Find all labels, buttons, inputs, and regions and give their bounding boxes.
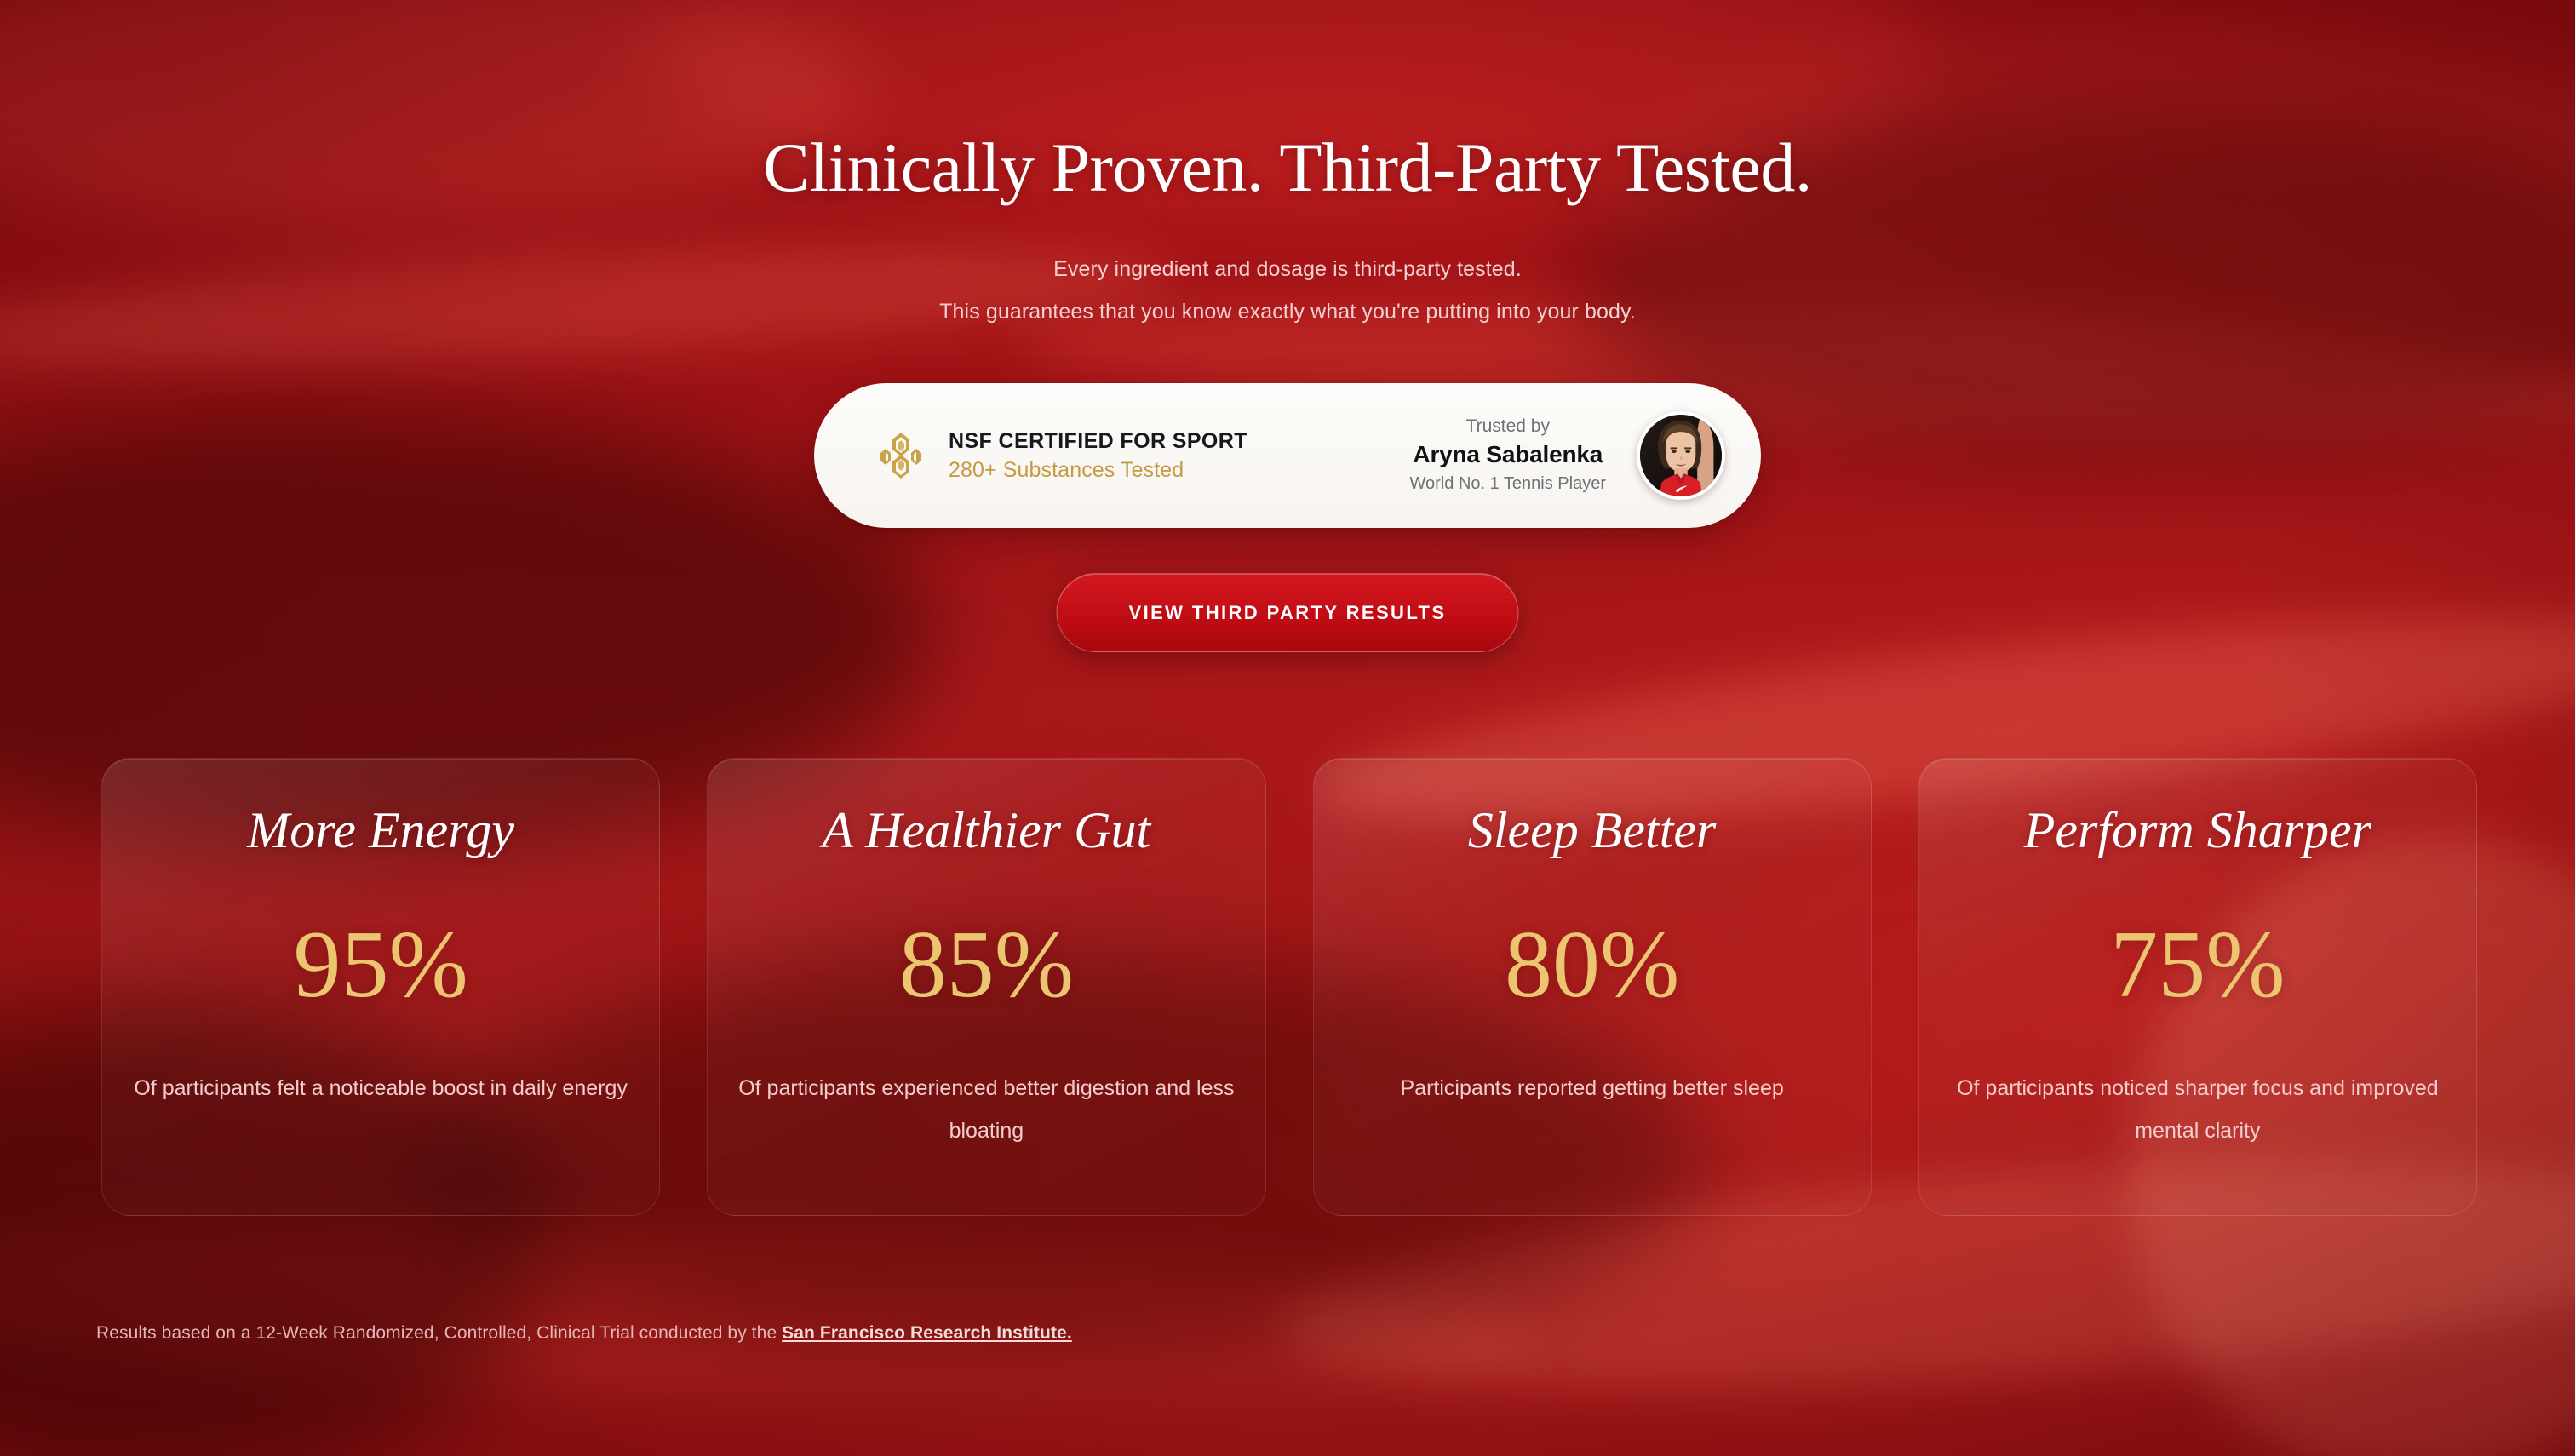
stat-card-value: 75% xyxy=(2110,914,2285,1016)
athlete-name: Aryna Sabalenka xyxy=(1410,439,1606,471)
stats-card-grid: More Energy 95% Of participants felt a n… xyxy=(101,758,2477,1216)
stat-card-value: 95% xyxy=(293,914,467,1016)
nsf-text-group: NSF CERTIFIED FOR SPORT 280+ Substances … xyxy=(949,427,1247,484)
view-third-party-results-button[interactable]: VIEW THIRD PARTY RESULTS xyxy=(1057,573,1519,652)
stat-card-description: Participants reported getting better sle… xyxy=(1400,1067,1783,1109)
athlete-title: World No. 1 Tennis Player xyxy=(1410,471,1606,496)
research-institute-link[interactable]: San Francisco Research Institute. xyxy=(782,1323,1072,1343)
hero-subtitle-line-2: This guarantees that you know exactly wh… xyxy=(0,290,2575,333)
hero-section: Clinically Proven. Third-Party Tested. E… xyxy=(0,0,2575,1456)
stat-card-title: Sleep Better xyxy=(1468,800,1717,861)
trial-footnote-text: Results based on a 12-Week Randomized, C… xyxy=(96,1323,782,1343)
athlete-endorsement-group: Trusted by Aryna Sabalenka World No. 1 T… xyxy=(1410,411,1761,500)
stat-card: Sleep Better 80% Participants reported g… xyxy=(1313,758,1872,1216)
trust-badge[interactable]: NSF CERTIFIED FOR SPORT 280+ Substances … xyxy=(814,383,1761,528)
stat-card-title: More Energy xyxy=(247,800,514,861)
stat-card: Perform Sharper 75% Of participants noti… xyxy=(1918,758,2477,1216)
stat-card-description: Of participants noticed sharper focus an… xyxy=(1948,1067,2447,1152)
stat-card-description: Of participants felt a noticeable boost … xyxy=(134,1067,628,1109)
nsf-certification-group: NSF CERTIFIED FOR SPORT 280+ Substances … xyxy=(814,427,1247,484)
athlete-text-group: Trusted by Aryna Sabalenka World No. 1 T… xyxy=(1410,415,1606,496)
nsf-diamond-icon xyxy=(879,429,923,482)
stat-card: A Healthier Gut 85% Of participants expe… xyxy=(707,758,1265,1216)
nsf-certification-title: NSF CERTIFIED FOR SPORT xyxy=(949,427,1247,456)
hero-subtitle: Every ingredient and dosage is third-par… xyxy=(0,248,2575,333)
stat-card-value: 80% xyxy=(1505,914,1679,1016)
hero-subtitle-line-1: Every ingredient and dosage is third-par… xyxy=(0,248,2575,290)
nsf-substances-tested: 280+ Substances Tested xyxy=(949,456,1247,484)
stat-card-title: A Healthier Gut xyxy=(823,800,1151,861)
avatar xyxy=(1637,411,1725,500)
stat-card-title: Perform Sharper xyxy=(2024,800,2371,861)
stat-card: More Energy 95% Of participants felt a n… xyxy=(101,758,660,1216)
trial-footnote: Results based on a 12-Week Randomized, C… xyxy=(96,1323,1072,1344)
stat-card-value: 85% xyxy=(899,914,1074,1016)
trusted-by-label: Trusted by xyxy=(1410,415,1606,439)
page-title: Clinically Proven. Third-Party Tested. xyxy=(0,128,2575,208)
stat-card-description: Of participants experienced better diges… xyxy=(737,1067,1236,1152)
